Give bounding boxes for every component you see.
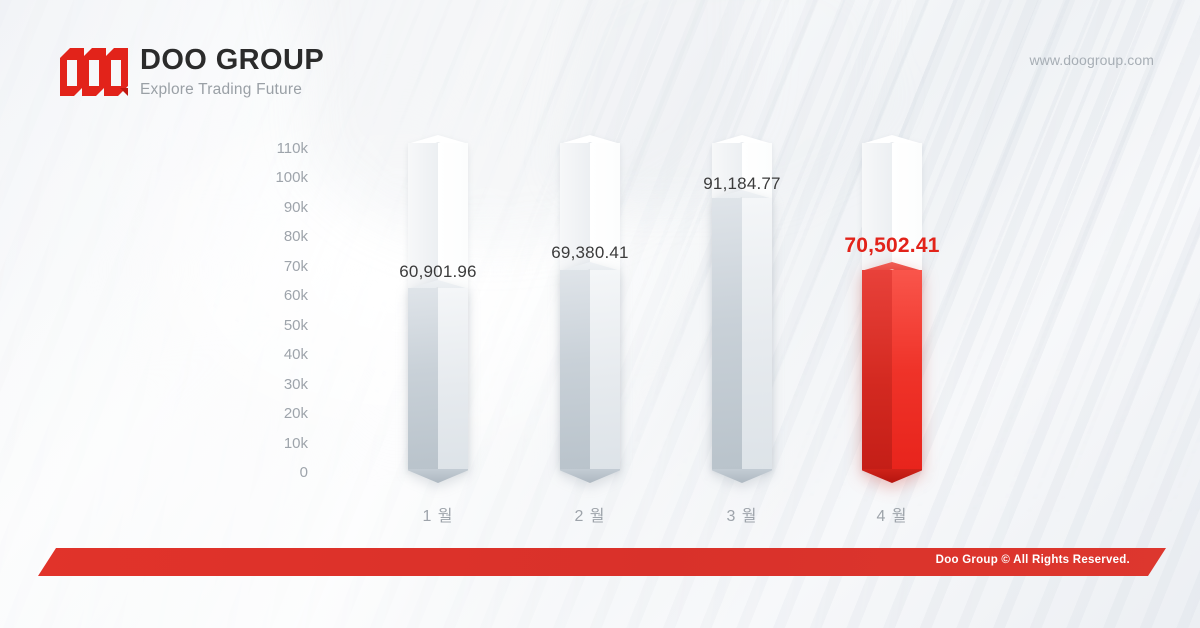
bar-face-left [408, 288, 438, 470]
y-axis-tick: 70k [244, 259, 308, 274]
bar-chart: 110k 100k 90k 80k 70k 60k 50k 40k 30k 20… [0, 0, 1200, 628]
bar-face-right [590, 270, 620, 470]
x-axis-label: 4 월 [832, 502, 952, 526]
bar-fill[interactable] [712, 198, 772, 470]
bar-bottom-point [408, 469, 468, 483]
y-axis-tick: 0 [244, 465, 308, 480]
x-axis-label: 2 월 [530, 502, 650, 526]
bar-face-left [862, 270, 892, 470]
bar-fill-highlight[interactable] [862, 270, 922, 470]
footer-copyright: Doo Group © All Rights Reserved. [936, 554, 1130, 566]
y-axis-tick: 30k [244, 377, 308, 392]
y-axis: 110k 100k 90k 80k 70k 60k 50k 40k 30k 20… [240, 0, 308, 628]
bar-face-left [712, 198, 742, 470]
poster-canvas: DOO GROUP Explore Trading Future www.doo… [0, 0, 1200, 628]
y-axis-tick: 50k [244, 318, 308, 333]
bar-fill[interactable] [408, 288, 468, 470]
bar-face-right [742, 198, 772, 470]
bar-bottom-point [862, 469, 922, 483]
y-axis-tick: 100k [244, 170, 308, 185]
bar-face-right [438, 288, 468, 470]
bar-fill[interactable] [560, 270, 620, 470]
bar-face-right [892, 270, 922, 470]
y-axis-tick: 40k [244, 347, 308, 362]
y-axis-tick: 20k [244, 406, 308, 421]
y-axis-tick: 10k [244, 436, 308, 451]
x-axis-label: 3 월 [682, 502, 802, 526]
footer-bar: Doo Group © All Rights Reserved. [38, 548, 1166, 576]
x-axis-label: 1 월 [378, 502, 498, 526]
y-axis-tick: 110k [244, 141, 308, 156]
y-axis-tick: 60k [244, 288, 308, 303]
bar-value-label-highlight: 70,502.41 [792, 234, 992, 258]
bar-face-left [560, 270, 590, 470]
bar-value-label: 69,380.41 [490, 243, 690, 263]
bar-value-label: 60,901.96 [338, 262, 538, 282]
y-axis-tick: 80k [244, 229, 308, 244]
bar-bottom-point [560, 469, 620, 483]
y-axis-tick: 90k [244, 200, 308, 215]
bar-bottom-point [712, 469, 772, 483]
bar-value-label: 91,184.77 [642, 174, 842, 194]
